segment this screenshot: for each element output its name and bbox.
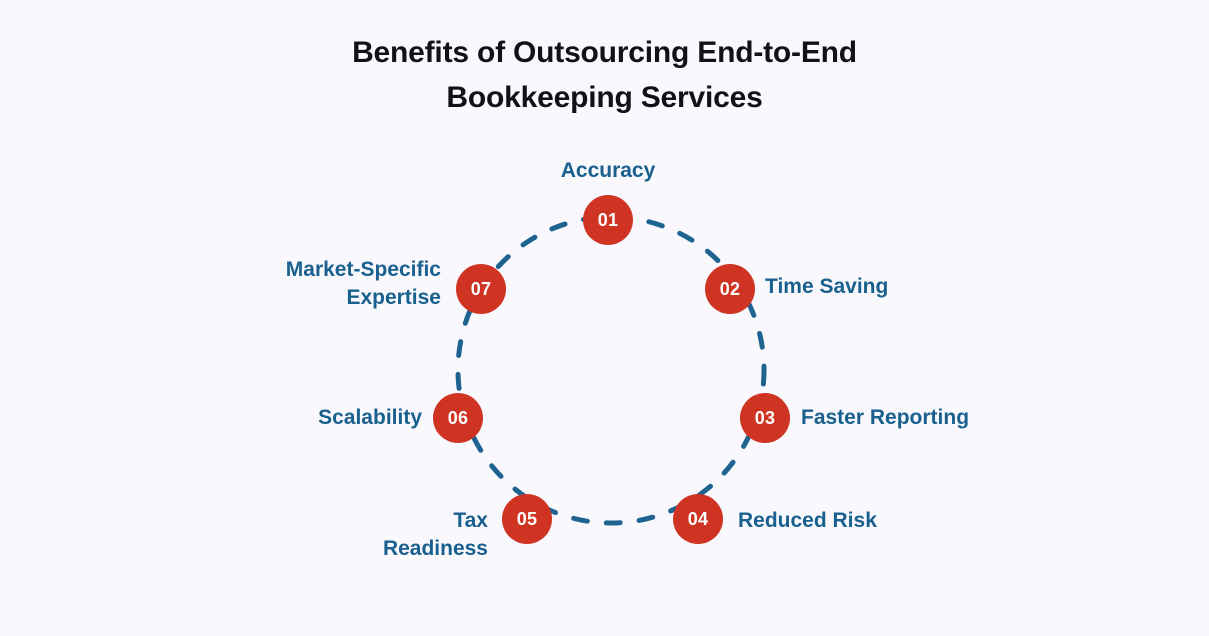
node-label-05: Tax Readiness xyxy=(247,507,488,563)
node-label-02: Time Saving xyxy=(765,273,1015,301)
node-04[interactable]: 04 xyxy=(673,494,723,544)
dashed-ring xyxy=(0,0,1209,636)
node-02[interactable]: 02 xyxy=(705,264,755,314)
node-01[interactable]: 01 xyxy=(583,195,633,245)
node-label-06: Scalability xyxy=(178,404,422,432)
node-07[interactable]: 07 xyxy=(456,264,506,314)
node-label-04: Reduced Risk xyxy=(738,507,978,535)
node-label-03: Faster Reporting xyxy=(801,404,1071,432)
node-05[interactable]: 05 xyxy=(502,494,552,544)
infographic-canvas: Benefits of Outsourcing End-to-End Bookk… xyxy=(0,0,1209,636)
node-label-01: Accuracy xyxy=(540,157,676,185)
node-label-07: Market-Specific Expertise xyxy=(160,256,441,312)
node-06[interactable]: 06 xyxy=(433,393,483,443)
node-03[interactable]: 03 xyxy=(740,393,790,443)
